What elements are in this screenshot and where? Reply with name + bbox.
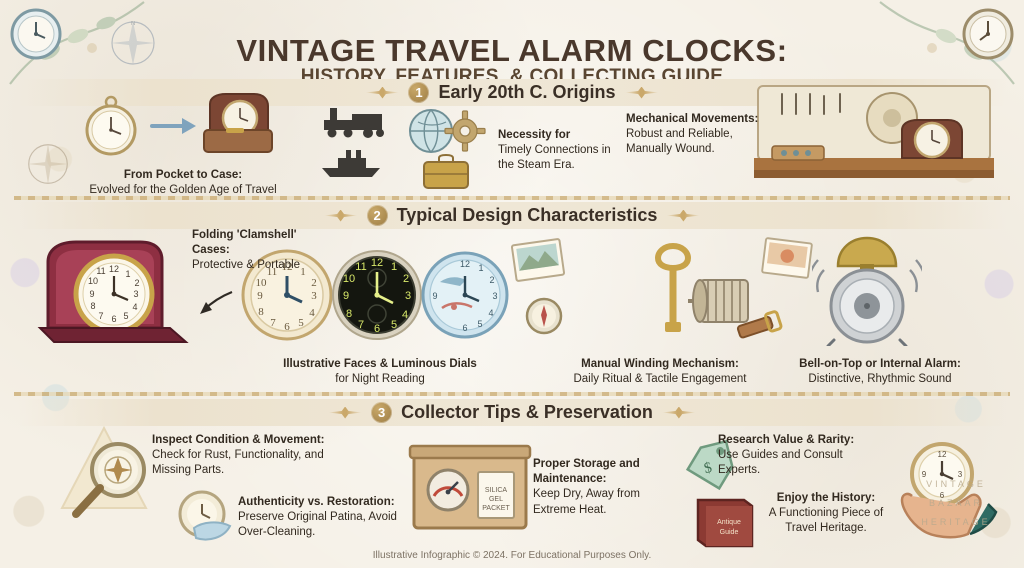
- svg-text:9: 9: [89, 289, 94, 299]
- svg-text:12: 12: [371, 257, 383, 269]
- svg-text:12: 12: [460, 259, 470, 269]
- block-title: Illustrative Faces & Luminous Dials: [283, 358, 477, 370]
- block-from-pocket-to-case: From Pocket to Case: Evolved for the Gol…: [78, 168, 288, 198]
- block-title: Proper Storage and Maintenance:: [533, 458, 640, 485]
- section-3-number: 3: [371, 402, 392, 423]
- svg-text:6: 6: [462, 323, 467, 333]
- postcard-sunset-icon: [760, 235, 815, 281]
- svg-text:6: 6: [284, 321, 290, 333]
- svg-text:6: 6: [111, 314, 116, 324]
- silica-label-line1: SILICA: [485, 487, 508, 494]
- steam-train-icon: [312, 104, 390, 140]
- evolution-arrow-icon: [150, 116, 198, 136]
- svg-text:2: 2: [311, 277, 317, 289]
- svg-text:12: 12: [938, 450, 947, 459]
- svg-text:5: 5: [123, 311, 128, 321]
- block-authenticity-restoration: Authenticity vs. Restoration: Preserve O…: [238, 495, 418, 541]
- svg-text:9: 9: [343, 290, 349, 302]
- svg-text:4: 4: [488, 308, 493, 318]
- sparkle-left-icon: [365, 87, 399, 99]
- svg-text:3: 3: [492, 291, 497, 301]
- svg-text:7: 7: [270, 317, 276, 329]
- section-1-heading: Early 20th C. Origins: [438, 82, 615, 103]
- block-body: Timely Connections in the Steam Era.: [498, 144, 611, 171]
- sparkle-left-icon: [328, 407, 362, 419]
- section-2-band: 2 Typical Design Characteristics: [18, 202, 1006, 229]
- sparkle-right-icon: [662, 407, 696, 419]
- svg-text:2: 2: [134, 278, 139, 288]
- block-body: Keep Dry, Away from Extreme Heat.: [533, 488, 640, 515]
- restoration-cloth-icon: [168, 486, 246, 552]
- section-3-heading: Collector Tips & Preservation: [401, 402, 653, 423]
- svg-text:1: 1: [391, 261, 397, 273]
- svg-text:5: 5: [298, 317, 304, 329]
- svg-text:7: 7: [98, 311, 103, 321]
- section-1-number: 1: [408, 82, 429, 103]
- svg-text:3: 3: [311, 290, 317, 302]
- silica-label-line3: PACKET: [482, 505, 510, 512]
- travel-clock-case-icon: [196, 90, 280, 166]
- section-divider-2: [14, 392, 1010, 396]
- section-2-heading: Typical Design Characteristics: [397, 205, 658, 226]
- block-research-value: Research Value & Rarity: Use Guides and …: [718, 433, 876, 479]
- watchmaker-workbench-illustration: [752, 84, 996, 192]
- postcard-mountain-icon: [509, 237, 566, 284]
- section-divider-1: [14, 196, 1010, 200]
- svg-text:6: 6: [374, 323, 380, 335]
- infographic-poster: N VINTAGE TRAVEL ALARM CLOCKS: HISTORY, …: [0, 0, 1024, 568]
- svg-text:5: 5: [477, 319, 482, 329]
- block-body: A Functioning Piece of Travel Heritage.: [769, 507, 883, 534]
- block-body: Robust and Reliable, Manually Wound.: [626, 128, 733, 155]
- bell-on-top-alarm-clock-icon: [812, 236, 922, 346]
- suitcase-icon: [420, 152, 472, 192]
- svg-text:1: 1: [478, 263, 483, 273]
- svg-text:10: 10: [88, 276, 98, 286]
- block-title: Enjoy the History:: [777, 492, 875, 504]
- section-3-band: 3 Collector Tips & Preservation: [18, 399, 1006, 426]
- svg-text:12: 12: [109, 264, 119, 274]
- svg-text:11: 11: [355, 261, 366, 273]
- block-title: Necessity for: [498, 129, 570, 141]
- gear-icon: [444, 110, 486, 152]
- pocket-compass-icon: [524, 296, 564, 336]
- block-body: Check for Rust, Functionality, and Missi…: [152, 449, 324, 476]
- steam-ship-icon: [316, 146, 386, 180]
- svg-text:1: 1: [125, 269, 130, 279]
- illustrated-blue-dial-icon: 12369 1245: [420, 250, 510, 340]
- clamshell-case-open-illustration: 12369 1245 781011: [36, 232, 204, 350]
- block-title: Research Value & Rarity:: [718, 434, 854, 446]
- block-body: Distinctive, Rhythmic Sound: [808, 373, 951, 385]
- page-title: VINTAGE TRAVEL ALARM CLOCKS:: [0, 33, 1024, 69]
- svg-text:4: 4: [309, 307, 315, 319]
- block-body: Evolved for the Golden Age of Travel: [89, 184, 276, 196]
- svg-text:11: 11: [96, 266, 105, 276]
- svg-text:7: 7: [358, 319, 364, 331]
- block-enjoy-history: Enjoy the History: A Functioning Piece o…: [760, 491, 892, 537]
- block-title: Authenticity vs. Restoration:: [238, 496, 395, 508]
- block-title: Mechanical Movements:: [626, 113, 758, 125]
- svg-text:N: N: [131, 21, 135, 27]
- watermark-text: VINTAGE BAZAAR HERITAGE: [902, 475, 1010, 532]
- antique-guide-book-icon: Antique Guide: [692, 494, 758, 550]
- block-proper-storage: Proper Storage and Maintenance: Keep Dry…: [533, 457, 641, 518]
- block-bell-on-top: Bell-on-Top or Internal Alarm: Distincti…: [772, 357, 988, 387]
- storage-box-illustration: SILICA GEL PACKET: [408, 440, 532, 538]
- svg-text:10: 10: [256, 277, 268, 289]
- footer-credit: Illustrative Infographic © 2024. For Edu…: [0, 550, 1024, 561]
- block-folding-clamshell-cases: Folding 'Clamshell' Cases: Protective & …: [192, 228, 326, 274]
- svg-text:5: 5: [391, 319, 397, 331]
- block-illustrative-faces: Illustrative Faces & Luminous Dials for …: [275, 357, 485, 387]
- svg-text:8: 8: [90, 301, 95, 311]
- block-manual-winding: Manual Winding Mechanism: Daily Ritual &…: [552, 357, 768, 387]
- luminous-black-dial-icon: 12369 1245 781011: [330, 248, 424, 342]
- block-body: Preserve Original Patina, Avoid Over-Cle…: [238, 511, 397, 538]
- callout-arrow-icon: [196, 288, 236, 318]
- block-title: Manual Winding Mechanism:: [581, 358, 739, 370]
- block-inspect-condition: Inspect Condition & Movement: Check for …: [152, 433, 328, 479]
- book-title-line2: Guide: [720, 529, 739, 536]
- sparkle-right-icon: [625, 87, 659, 99]
- pocket-watch-icon: [78, 88, 144, 160]
- section-2-number: 2: [367, 205, 388, 226]
- block-body: Use Guides and Consult Experts.: [718, 449, 843, 476]
- block-body: for Night Reading: [335, 373, 425, 385]
- svg-text:4: 4: [132, 302, 137, 312]
- svg-text:8: 8: [346, 308, 352, 320]
- block-title: Bell-on-Top or Internal Alarm:: [799, 358, 961, 370]
- book-title-line1: Antique: [717, 519, 741, 526]
- block-mechanical-movements: Mechanical Movements: Robust and Reliabl…: [626, 112, 776, 158]
- svg-text:4: 4: [402, 309, 408, 321]
- block-title: Inspect Condition & Movement:: [152, 434, 325, 446]
- svg-text:2: 2: [403, 273, 409, 285]
- sparkle-left-icon: [324, 210, 358, 222]
- sparkle-right-icon: [666, 210, 700, 222]
- block-necessity-timely: Necessity for Timely Connections in the …: [498, 128, 616, 174]
- block-body: Protective & Portable: [192, 259, 300, 271]
- svg-text:9: 9: [257, 290, 263, 302]
- svg-text:2: 2: [489, 275, 494, 285]
- silica-label-line2: GEL: [489, 496, 503, 503]
- svg-text:3: 3: [133, 289, 138, 299]
- block-title: From Pocket to Case:: [124, 169, 242, 181]
- svg-text:9: 9: [432, 291, 437, 301]
- svg-text:10: 10: [343, 273, 355, 285]
- compass-rose-secondary-icon: [22, 138, 74, 190]
- magnifying-glass-icon: [62, 432, 158, 528]
- block-body: Daily Ritual & Tactile Engagement: [573, 373, 746, 385]
- svg-text:3: 3: [405, 290, 411, 302]
- block-title: Folding 'Clamshell' Cases:: [192, 229, 297, 256]
- svg-text:8: 8: [258, 306, 264, 318]
